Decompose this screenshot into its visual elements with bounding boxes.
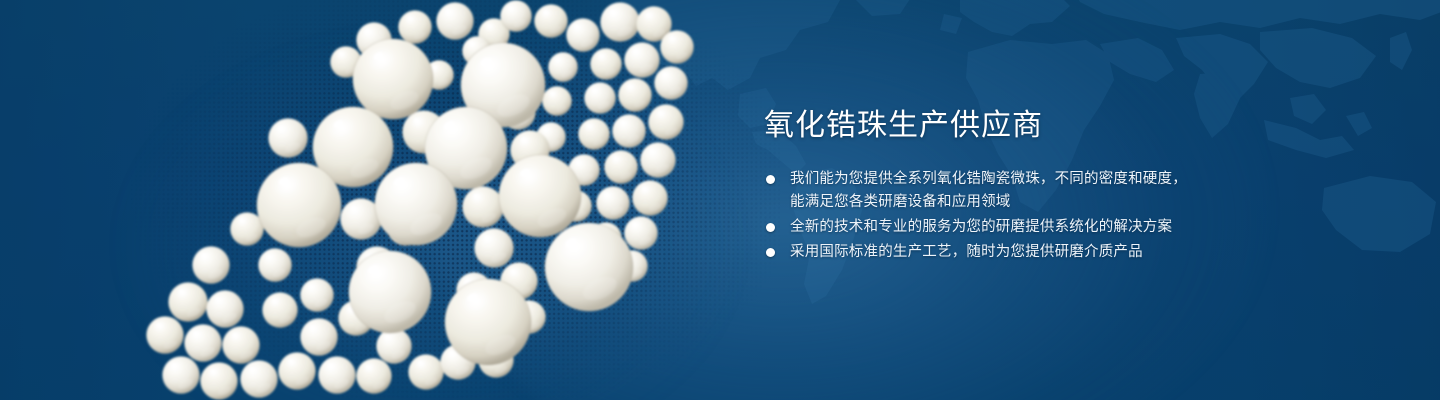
bullet-text-line1: 全新的技术和专业的服务为您的研磨提供系统化的解决方案 bbox=[790, 219, 1172, 235]
bullet-text-line2: 能满足您各类研磨设备和应用领域 bbox=[790, 191, 1264, 214]
bullet-text-line1: 我们能为您提供全系列氧化锆陶瓷微珠，不同的密度和硬度， bbox=[790, 171, 1187, 187]
page-title: 氧化锆珠生产供应商 bbox=[764, 106, 1264, 146]
list-item: 我们能为您提供全系列氧化锆陶瓷微珠，不同的密度和硬度， 能满足您各类研磨设备和应… bbox=[764, 168, 1264, 214]
bullet-dot-icon bbox=[766, 175, 775, 184]
hero-copy: 氧化锆珠生产供应商 我们能为您提供全系列氧化锆陶瓷微珠，不同的密度和硬度， 能满… bbox=[764, 106, 1264, 266]
feature-bullet-list: 我们能为您提供全系列氧化锆陶瓷微珠，不同的密度和硬度， 能满足您各类研磨设备和应… bbox=[764, 168, 1264, 264]
bullet-dot-icon bbox=[766, 223, 775, 232]
bullet-text-line1: 采用国际标准的生产工艺，随时为您提供研磨介质产品 bbox=[790, 244, 1143, 260]
list-item: 全新的技术和专业的服务为您的研磨提供系统化的解决方案 bbox=[764, 216, 1264, 239]
list-item: 采用国际标准的生产工艺，随时为您提供研磨介质产品 bbox=[764, 241, 1264, 264]
bullet-dot-icon bbox=[766, 248, 775, 257]
hero-banner: 氧化锆珠生产供应商 我们能为您提供全系列氧化锆陶瓷微珠，不同的密度和硬度， 能满… bbox=[0, 0, 1440, 400]
